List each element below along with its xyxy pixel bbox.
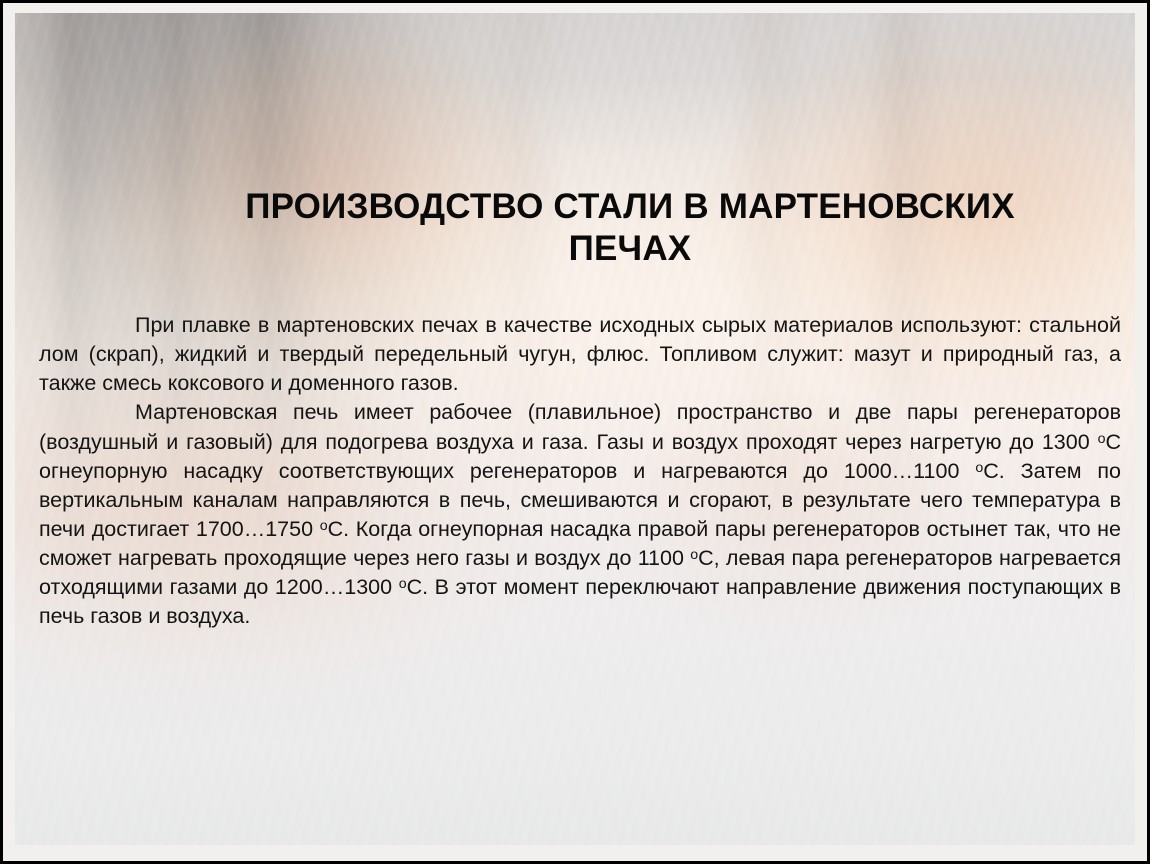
slide-body: При плавке в мартеновских печах в качест… [39, 311, 1121, 631]
slide-frame: ПРОИЗВОДСТВО СТАЛИ В МАРТЕНОВСКИХ ПЕЧАХ … [0, 0, 1150, 864]
slide-content: ПРОИЗВОДСТВО СТАЛИ В МАРТЕНОВСКИХ ПЕЧАХ … [15, 13, 1135, 845]
paragraph-raw-materials: При плавке в мартеновских печах в качест… [39, 311, 1121, 398]
slide-title: ПРОИЗВОДСТВО СТАЛИ В МАРТЕНОВСКИХ ПЕЧАХ [211, 186, 1049, 269]
slide-background-image: ПРОИЗВОДСТВО СТАЛИ В МАРТЕНОВСКИХ ПЕЧАХ … [15, 13, 1135, 845]
paragraph-furnace-operation: Мартеновская печь имеет рабочее (плавиль… [39, 398, 1121, 631]
slide-paper-margin: ПРОИЗВОДСТВО СТАЛИ В МАРТЕНОВСКИХ ПЕЧАХ … [3, 3, 1147, 861]
